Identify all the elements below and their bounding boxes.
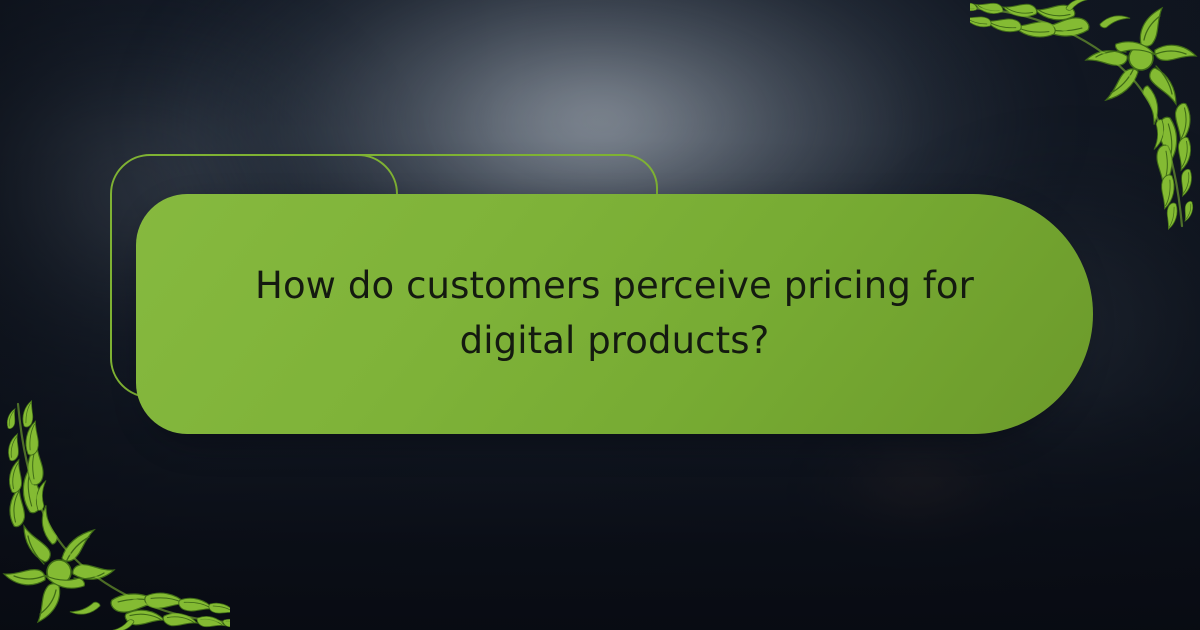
question-card: How do customers perceive pricing for di…	[136, 194, 1093, 434]
question-card-group: How do customers perceive pricing for di…	[108, 152, 1093, 437]
question-card-canvas: How do customers perceive pricing for di…	[0, 0, 1200, 630]
question-title: How do customers perceive pricing for di…	[244, 259, 985, 369]
